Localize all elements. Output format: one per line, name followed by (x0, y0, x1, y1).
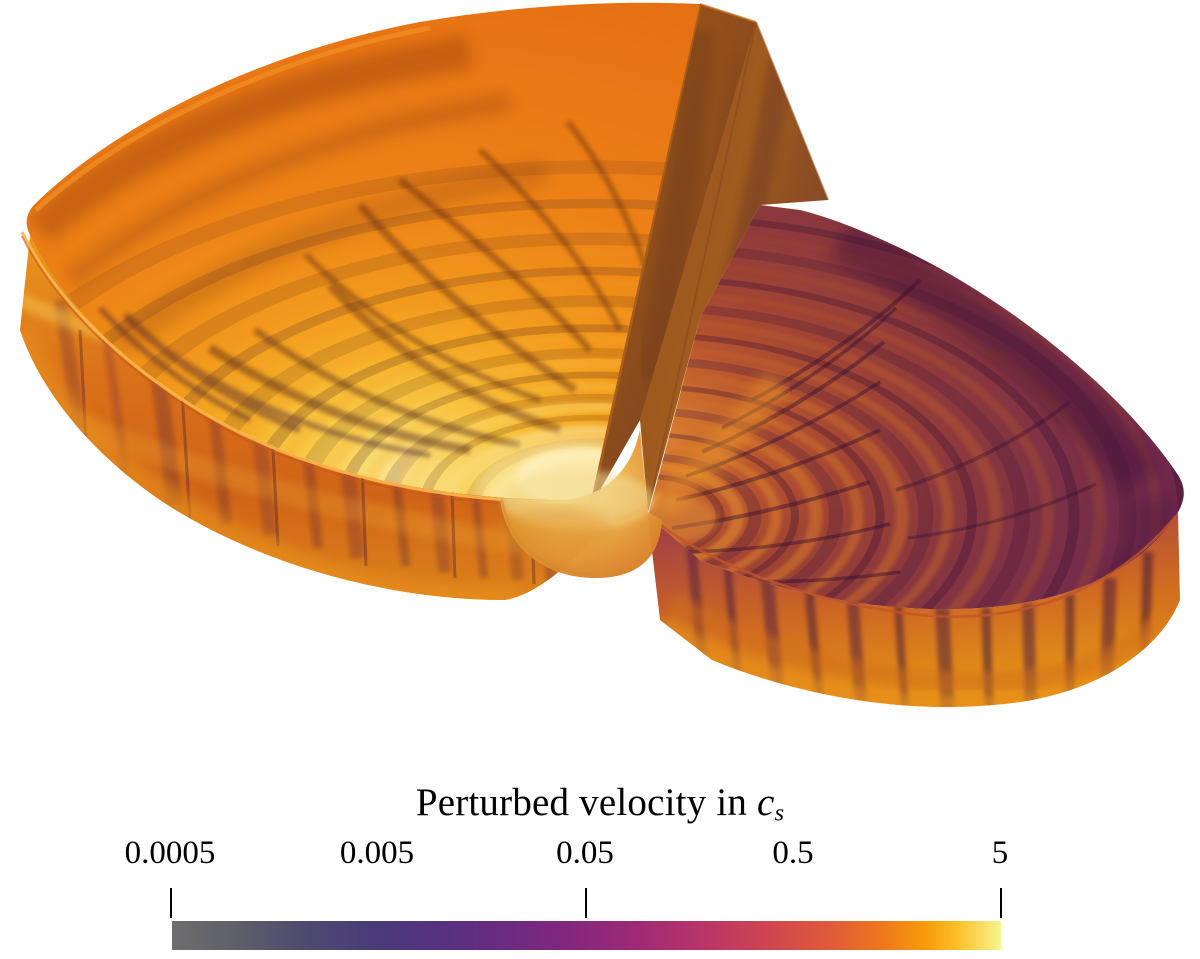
colorbar-tick-label-0: 0.0005 (125, 835, 216, 872)
colorbar-tick-label-4: 5 (992, 835, 1009, 872)
colorbar-tick-label-1: 0.005 (340, 835, 414, 872)
colorbar-tick-mark-mid (585, 888, 587, 918)
colorbar-title-symbol: c (757, 781, 775, 824)
colorbar-tick-mark-min (170, 888, 172, 918)
colorbar-tick-label-2: 0.05 (556, 835, 614, 872)
colorbar-tick-labels: 0.0005 0.005 0.05 0.5 5 (0, 835, 1200, 875)
colorbar-title: Perturbed velocity in cs (0, 780, 1200, 827)
figure-root: Perturbed velocity in cs 0.0005 0.005 0.… (0, 0, 1200, 959)
colorbar-title-text: Perturbed velocity in (416, 781, 757, 824)
render-grain (0, 0, 1200, 790)
colorbar-tick-label-3: 0.5 (772, 835, 813, 872)
colorbar-gradient-bar (172, 921, 1001, 950)
colorbar-legend: Perturbed velocity in cs 0.0005 0.005 0.… (0, 780, 1200, 959)
colorbar-tick-mark-max (1000, 888, 1002, 918)
colorbar-title-subscript: s (775, 799, 785, 826)
disk-volume-rendering (0, 0, 1200, 790)
